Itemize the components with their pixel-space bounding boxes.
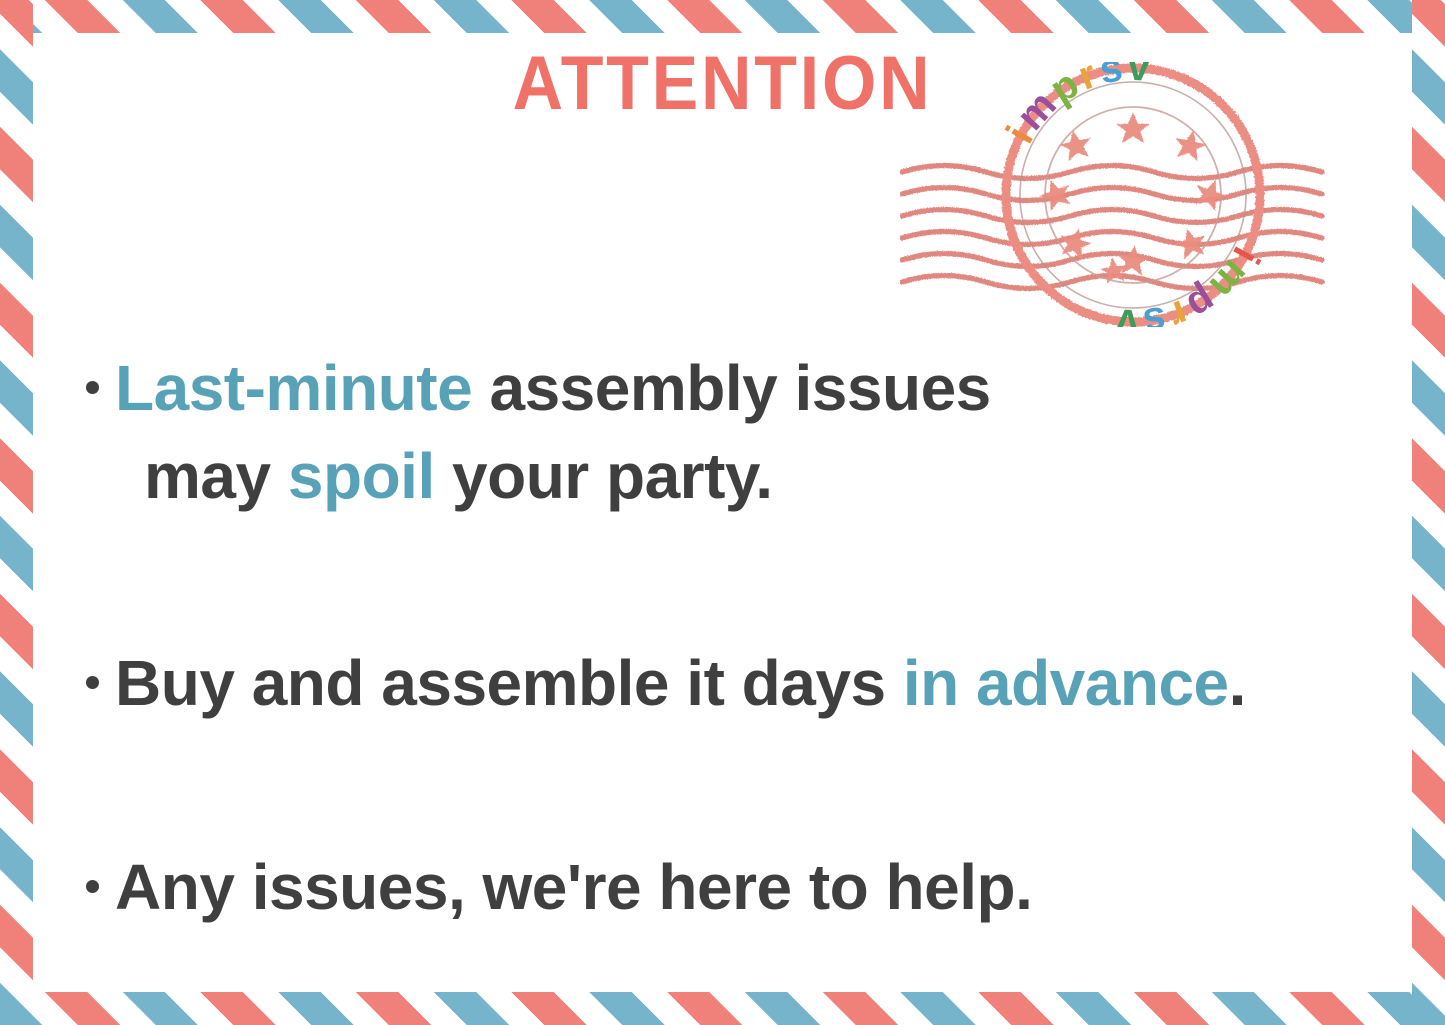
bullet-dot-icon <box>86 676 99 689</box>
attention-card: ATTENTION <box>0 0 1445 1025</box>
bullet-1-highlight-1: Last-minute <box>115 352 472 424</box>
bullet-2-text-2: . <box>1229 647 1246 719</box>
bullet-dot-icon <box>86 880 99 893</box>
bullet-list: Last-minute assembly issues may spoil yo… <box>86 344 1406 931</box>
airmail-border-left <box>0 0 33 1025</box>
bullet-1-text-1: assembly issues <box>472 352 991 424</box>
airmail-border-right <box>1412 0 1445 1025</box>
bullet-2-text-1: Buy and assemble it days <box>115 647 903 719</box>
list-item: Any issues, we're here to help. <box>86 843 1406 931</box>
bullet-1-line-2: may spoil your party. <box>86 432 1406 520</box>
airmail-border-top <box>0 0 1445 33</box>
bullet-3-text: Any issues, we're here to help. <box>115 851 1032 923</box>
list-item: Last-minute assembly issues may spoil yo… <box>86 344 1406 521</box>
postmark-stamp-icon: imprsv imprsv <box>900 62 1375 327</box>
bullet-1-text-3: your party. <box>435 440 773 512</box>
bullet-dot-icon <box>86 381 99 394</box>
airmail-border-bottom <box>0 992 1445 1025</box>
list-item: Buy and assemble it days in advance. <box>86 639 1406 727</box>
bullet-1-text-2: may <box>144 440 288 512</box>
stamp-stars-icon <box>1035 112 1230 284</box>
bullet-1-highlight-2: spoil <box>288 440 435 512</box>
bullet-2-highlight: in advance <box>903 647 1229 719</box>
